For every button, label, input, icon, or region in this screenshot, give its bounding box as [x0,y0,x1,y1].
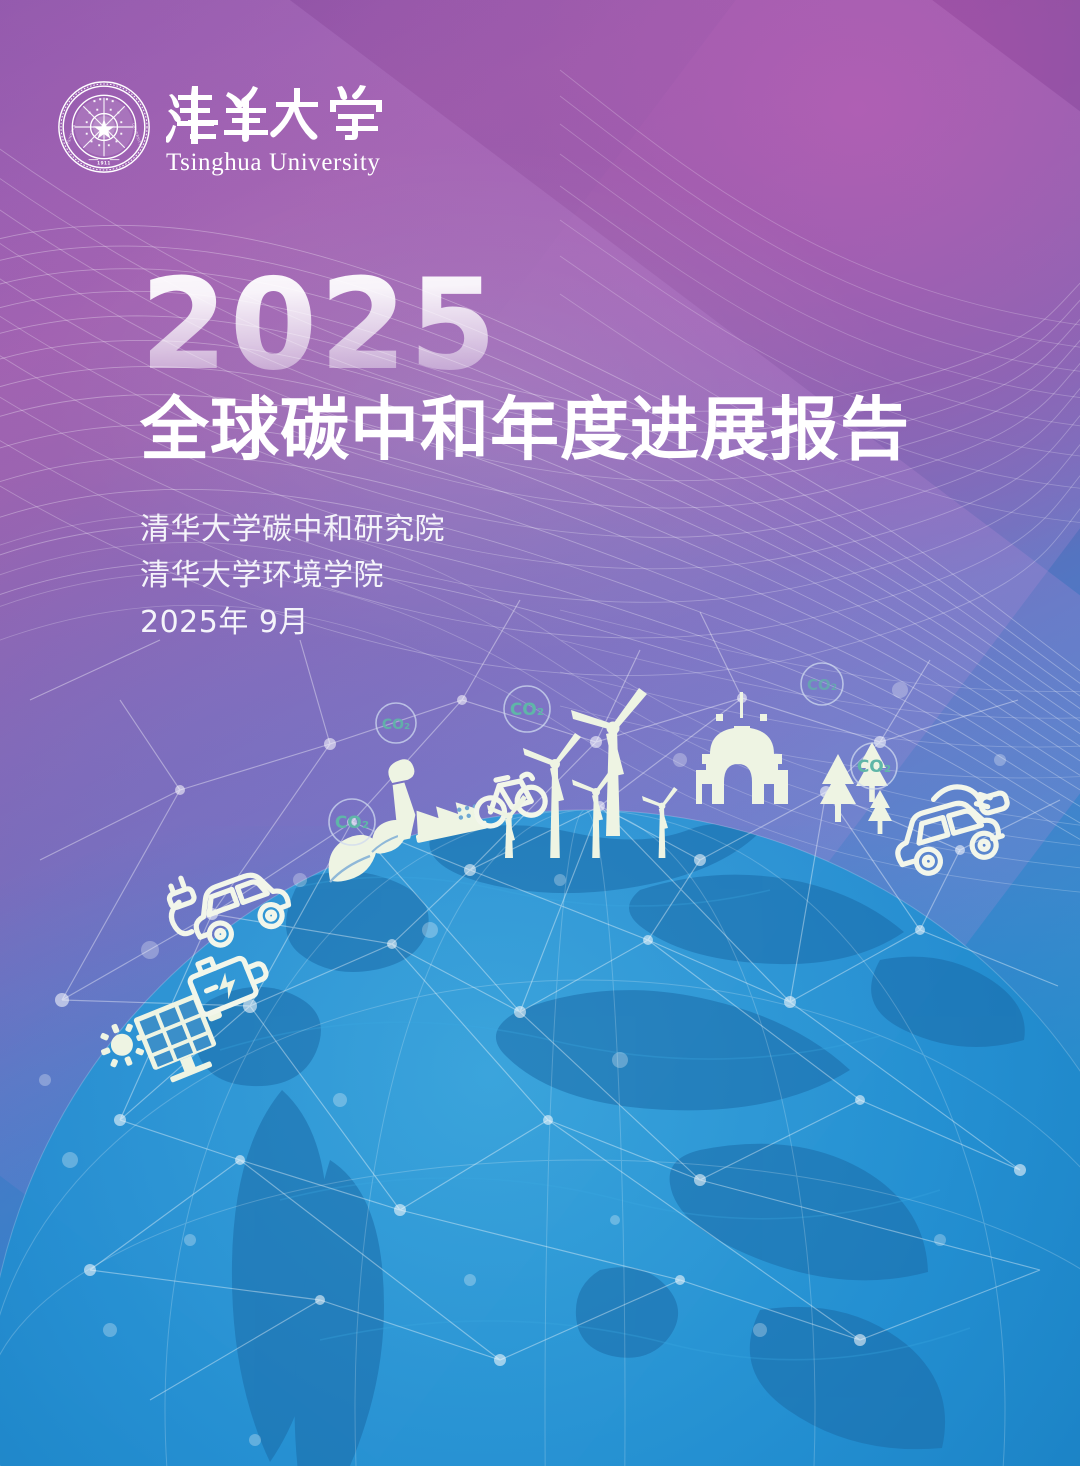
institute-line-2: 清华大学环境学院 [140,553,1020,599]
co2-bubble: CO₂ [329,799,375,845]
globe-grid [0,810,1080,1466]
bicycle-icon [471,771,549,829]
electric-car-plug-icon [884,774,1020,881]
bottom-blue-glow [0,826,1080,1466]
publication-date: 2025年 9月 [140,600,1020,646]
globe-sphere [0,810,1080,1466]
tsinghua-university-seal: 1911 TSINGHUA UNIVERSITY [56,79,152,175]
wind-turbine-icon [487,795,527,858]
headline-block: 2025 全球碳中和年度进展报告 清华大学碳中和研究院 清华大学环境学院 202… [140,262,1020,646]
diagonal-band-violet [0,0,1080,1466]
svg-text:CO₂: CO₂ [510,700,544,720]
network-nodes [39,682,1026,1446]
co2-bubble: CO₂ [504,686,550,732]
svg-text:CO₂: CO₂ [807,676,837,694]
wind-turbine-icon [523,733,581,858]
tsinghua-logo: 1911 TSINGHUA UNIVERSITY 清华大学 [56,78,426,175]
wind-turbine-icon [571,688,647,836]
svg-text:TSINGHUA: TSINGHUA [66,123,76,145]
co2-bubble: CO₂ [801,663,843,705]
svg-text:CO₂: CO₂ [857,757,891,777]
svg-text:1911: 1911 [97,160,111,165]
svg-text:CO₂: CO₂ [335,813,369,833]
factory-icon [382,745,488,847]
svg-text:CO₂: CO₂ [382,717,410,733]
logo-name-en: Tsinghua University [166,150,426,175]
globe-illustration-layer [0,0,1080,1466]
leaves-icon [329,820,408,882]
logo-text-block: 清华大学 [166,78,426,175]
wind-turbine-icon [572,769,616,859]
battery-icon [185,942,272,1016]
wave-mesh-layer [0,0,1080,1466]
eco-icons-layer: .ico{fill:#eef4e3;} .icoL{fill:none;stro… [0,0,1080,1466]
network-lines [30,600,1060,1400]
co2-bubble: CO₂ [851,743,897,789]
page-title: 全球碳中和年度进展报告 [140,394,1020,467]
report-year: 2025 [140,262,1020,388]
co2-bubble: CO₂ [376,703,416,743]
city-arch-icon [696,692,788,804]
subtitle-block: 清华大学碳中和研究院 清华大学环境学院 2025年 9月 [140,507,1020,646]
institute-line-1: 清华大学碳中和研究院 [140,507,1020,553]
globe-coastline-detail [220,877,970,1360]
report-cover-page: .ico{fill:#eef4e3;} .icoL{fill:none;stro… [0,0,1080,1466]
logo-name-cn: 清华大学 [166,78,426,144]
wind-turbine-icon [642,787,678,858]
wind-turbine-group [487,688,678,858]
electric-car-icon [159,846,294,958]
solar-panel-icon [93,985,238,1103]
diagonal-band-light [0,0,1080,1460]
svg-text:UNIVERSITY: UNIVERSITY [131,122,142,146]
trees-icon [820,742,892,834]
globe-continents [194,824,1025,1466]
